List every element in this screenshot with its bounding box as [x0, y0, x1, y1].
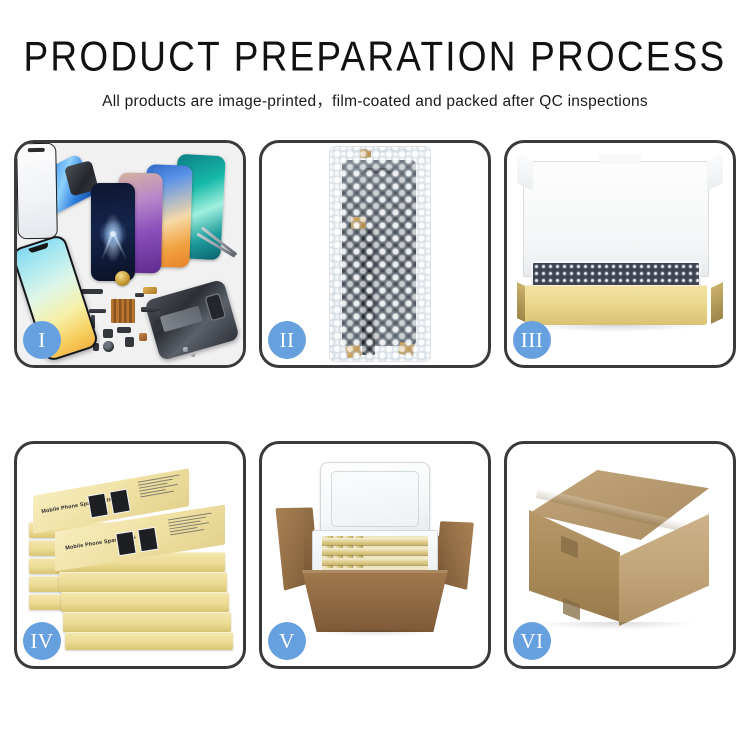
- step-badge-5: V: [268, 622, 306, 660]
- step-badge-2: II: [268, 321, 306, 359]
- lid-flap-left: [517, 154, 533, 190]
- process-step-grid: I II: [14, 140, 736, 669]
- foam-box-lid: [320, 462, 430, 536]
- bubble-wrapped-contents: [533, 263, 699, 287]
- part-button-bracket: [103, 329, 113, 338]
- step-badge-4: IV: [23, 622, 61, 660]
- screen-protector-glass: [17, 143, 58, 239]
- part-flex-cable: [155, 311, 160, 323]
- step-badge-1: I: [23, 321, 61, 359]
- process-step-panel-1: I: [14, 140, 246, 368]
- part-circuit-board: [111, 299, 135, 323]
- spare-parts-cluster: [79, 271, 211, 363]
- part-speaker-mesh: [81, 289, 103, 294]
- drop-shadow: [316, 630, 434, 637]
- step-badge-6: VI: [513, 622, 551, 660]
- part-screw: [191, 353, 195, 357]
- process-step-panel-2: II: [259, 140, 491, 368]
- stacked-box: [63, 612, 231, 632]
- process-step-panel-3: III: [504, 140, 736, 368]
- phone-screen-fan: [17, 143, 57, 239]
- packed-box: [322, 548, 428, 555]
- part-camera-lens: [103, 341, 114, 352]
- box-side-right: [711, 282, 723, 324]
- packed-box: [322, 558, 428, 565]
- lid-tab: [599, 155, 641, 164]
- box-label-thumbnail: [109, 489, 131, 515]
- carton-front-wall: [302, 570, 448, 632]
- product-preparation-process-infographic: PRODUCT PREPARATION PROCESS All products…: [0, 0, 750, 750]
- stacked-box: [65, 632, 233, 650]
- box-front-yellow: [525, 285, 707, 325]
- notch: [28, 243, 49, 254]
- box-stack: Mobile Phone Spare Parts: [29, 466, 237, 652]
- part-shield-plate: [117, 327, 131, 333]
- box-lid-white: [523, 161, 709, 277]
- box-label-thumbnail: [87, 493, 109, 519]
- process-step-panel-4: Mobile Phone Spare Parts: [14, 441, 246, 669]
- bubble-wrap-pouch: [330, 147, 430, 361]
- box-label-thumbnail: [137, 527, 158, 553]
- drop-shadow: [541, 622, 693, 630]
- header: PRODUCT PREPARATION PROCESS All products…: [0, 36, 750, 111]
- part-screw: [183, 347, 188, 352]
- lid-flap-right: [707, 154, 723, 190]
- part-flex-cable: [89, 309, 106, 313]
- box-label-thumbnail: [115, 531, 136, 557]
- bubble-texture-offset: [330, 147, 430, 361]
- phone-screen-dark-blue: [91, 183, 135, 281]
- stacked-box: [59, 572, 227, 592]
- step-badge-3: III: [513, 321, 551, 359]
- stacked-box: [61, 592, 229, 612]
- packed-box: [322, 538, 428, 545]
- page-subtitle: All products are image-printed，film-coat…: [0, 89, 750, 111]
- page-title: PRODUCT PREPARATION PROCESS: [0, 36, 750, 80]
- process-step-panel-5: V: [259, 441, 491, 669]
- notch: [28, 148, 45, 152]
- part-flex-cable: [135, 293, 144, 297]
- part-gold-connector: [143, 287, 157, 294]
- part-vibration-motor: [115, 271, 130, 286]
- part-small-bracket: [125, 337, 134, 347]
- drop-shadow: [533, 325, 699, 332]
- part-copper-pad: [139, 333, 147, 341]
- process-step-panel-6: VI: [504, 441, 736, 669]
